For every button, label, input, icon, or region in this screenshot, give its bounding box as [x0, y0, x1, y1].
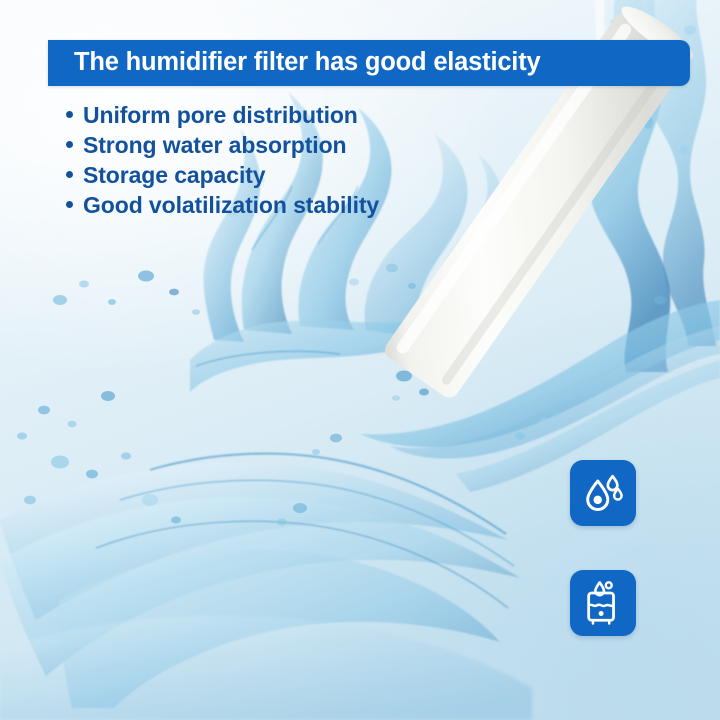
badge-water-absorption — [570, 460, 636, 526]
humidifier-tank-icon — [581, 580, 625, 626]
header-banner: The humidifier filter has good elasticit… — [48, 40, 690, 86]
list-item: Uniform pore distribution — [66, 100, 379, 130]
bullet-dot-icon — [66, 201, 73, 208]
feature-label: Good volatilization stability — [83, 190, 379, 220]
bullet-dot-icon — [66, 171, 73, 178]
list-item: Good volatilization stability — [66, 190, 379, 220]
water-drops-icon — [580, 470, 626, 516]
feature-label: Uniform pore distribution — [83, 100, 358, 130]
bullet-dot-icon — [66, 141, 73, 148]
list-item: Strong water absorption — [66, 130, 379, 160]
feature-label: Strong water absorption — [83, 130, 347, 160]
badge-humidifier-storage — [570, 570, 636, 636]
feature-label: Storage capacity — [83, 160, 265, 190]
page-title: The humidifier filter has good elasticit… — [74, 50, 540, 76]
bullet-dot-icon — [66, 111, 73, 118]
feature-list: Uniform pore distribution Strong water a… — [66, 100, 379, 220]
product-marketing-image: The humidifier filter has good elasticit… — [0, 0, 720, 720]
list-item: Storage capacity — [66, 160, 379, 190]
